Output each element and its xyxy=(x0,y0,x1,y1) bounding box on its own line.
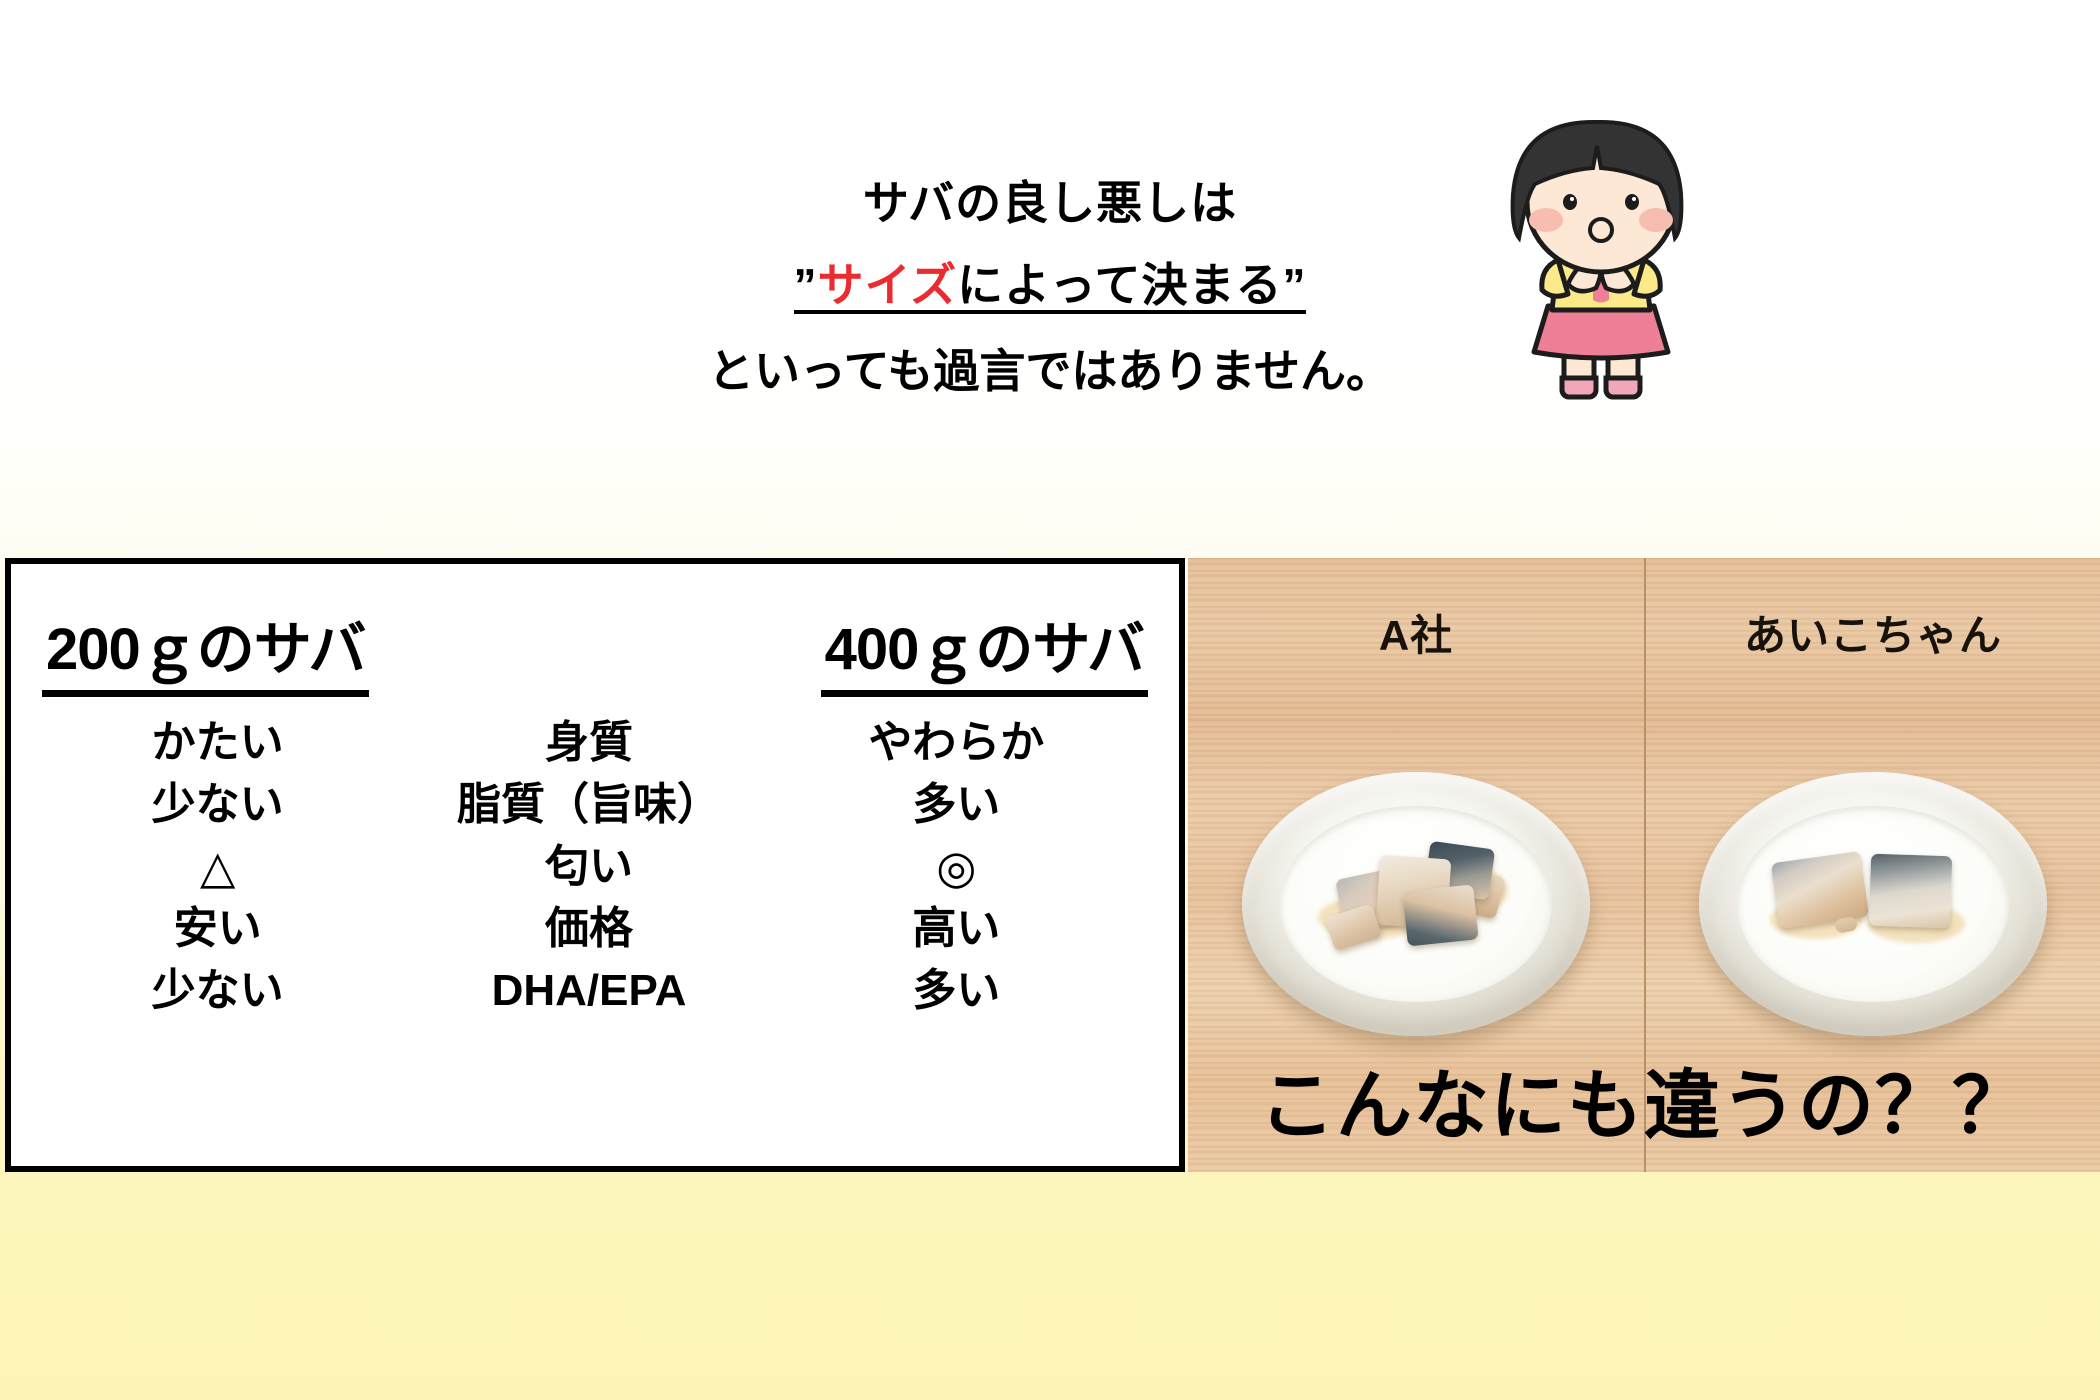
girl-character-icon xyxy=(1466,110,1736,410)
cell-attr-3: 価格 xyxy=(394,907,783,951)
cell-left-3: 安い xyxy=(23,907,412,951)
cell-right-2: ◎ xyxy=(762,844,1151,890)
quote-open-mark: ” xyxy=(794,259,818,311)
cell-right-1: 多い xyxy=(762,783,1151,827)
plate-inner-b xyxy=(1737,806,2008,1001)
header-line-3: といっても過言ではありません。 xyxy=(700,348,1400,394)
cell-left-4: 少ない xyxy=(23,969,412,1013)
header-400g-label: 400ｇのサバ xyxy=(821,602,1148,697)
table-col-head-right: 400ｇのサバ xyxy=(790,602,1179,697)
photo-panel-caption: こんなにも違うの？？ xyxy=(1188,1044,2100,1154)
table-row: かたい 身質 やわらか xyxy=(11,712,1179,774)
header-text-block: サバの良し悪しは ”サイズによって決まる” といっても過言ではありません。 xyxy=(700,180,1400,394)
cell-attr-1: 脂質（旨味） xyxy=(394,783,783,827)
header-200g-label: 200ｇのサバ xyxy=(42,602,369,697)
cell-attr-4: DHA/EPA xyxy=(394,969,783,1013)
plate-company-a xyxy=(1242,772,1590,1036)
table-col-head-left: 200ｇのサバ xyxy=(11,602,400,697)
photo-label-company-a: A社 xyxy=(1188,602,1644,663)
table-header-row: 200ｇのサバ 400ｇのサバ xyxy=(11,602,1179,697)
table-row: 少ない DHA/EPA 多い xyxy=(11,960,1179,1022)
plate-inner-a xyxy=(1280,806,1551,1001)
cell-left-2: △ xyxy=(23,844,412,890)
comparison-table-panel: 200ｇのサバ 400ｇのサバ かたい 身質 やわらか 少ない 脂質（旨味） 多… xyxy=(5,558,1185,1172)
girl-character-illustration xyxy=(1466,110,1736,410)
cell-left-0: かたい xyxy=(23,721,412,765)
cell-left-1: 少ない xyxy=(23,783,412,827)
cell-attr-2: 匂い xyxy=(394,845,783,889)
header-line-2-underlined: ”サイズによって決まる” xyxy=(794,262,1307,314)
cell-right-3: 高い xyxy=(762,907,1151,951)
fish-piece xyxy=(1869,854,1953,929)
table-row: △ 匂い ◎ xyxy=(11,836,1179,898)
cell-right-4: 多い xyxy=(762,969,1151,1013)
photo-label-aiko-chan: あいこちゃん xyxy=(1646,602,2100,663)
table-col-head-middle xyxy=(400,602,789,697)
header-highlight-size: サイズ xyxy=(818,259,958,311)
plate-aiko-chan xyxy=(1699,772,2047,1036)
cell-right-0: やわらか xyxy=(762,721,1151,765)
table-row: 少ない 脂質（旨味） 多い xyxy=(11,774,1179,836)
photo-comparison-panel: A社 あいこちゃん こんなにも違うの xyxy=(1188,558,2100,1172)
header-line-2-rest: によって決まる” xyxy=(957,259,1306,311)
fish-piece xyxy=(1402,885,1478,947)
cell-attr-0: 身質 xyxy=(394,721,783,765)
table-row: 安い 価格 高い xyxy=(11,898,1179,960)
header-line-1: サバの良し悪しは xyxy=(700,180,1400,226)
table-body: かたい 身質 やわらか 少ない 脂質（旨味） 多い △ 匂い ◎ 安い 価格 高… xyxy=(11,712,1179,1022)
